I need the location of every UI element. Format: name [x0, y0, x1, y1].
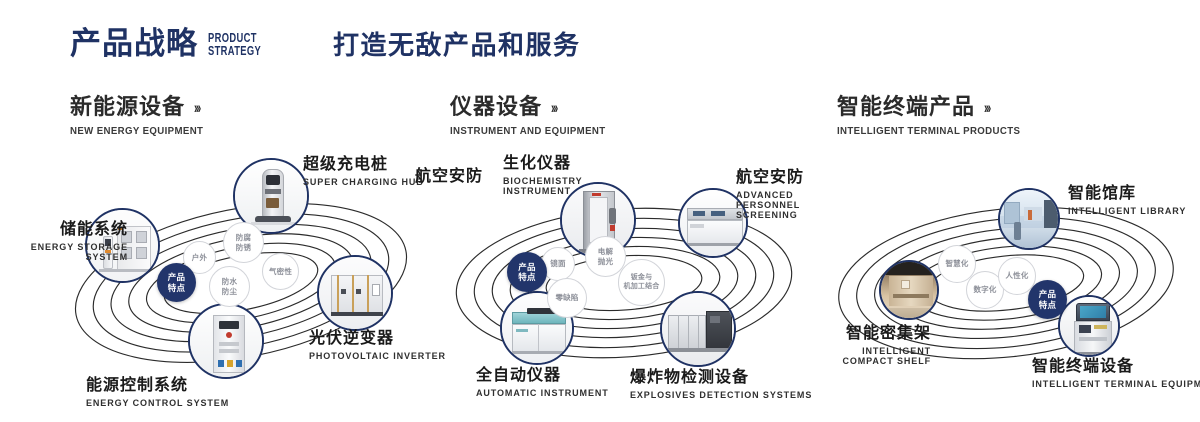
feature-label: 镜面	[550, 259, 565, 268]
node-label-cn: 航空安防	[415, 168, 483, 186]
cluster-intelligent-terminal: 智能馆库 INTELLIGENT LIBRARY 智能密集架 INTELLIGE…	[810, 155, 1200, 405]
chevron-right-icon: ›››	[194, 98, 200, 117]
node-label-en: ENERGY CONTROL SYSTEM	[86, 398, 229, 408]
node-label-cn: 智能终端设备	[1032, 358, 1200, 376]
label-automatic-instrument: 全自动仪器 AUTOMATIC INSTRUMENT	[476, 367, 609, 398]
section-title-en: NEW ENERGY EQUIPMENT	[70, 125, 203, 137]
brand-en-line-2: STRATEGY	[208, 44, 261, 57]
feature-bubble-airtight[interactable]: 气密性	[262, 253, 299, 290]
section-title-en: INTELLIGENT TERMINAL PRODUCTS	[837, 125, 1020, 137]
section-title-cn: 新能源设备	[70, 96, 185, 118]
label-explosives-detection: 爆炸物检测设备 EXPLOSIVES DETECTION SYSTEMS	[630, 369, 812, 400]
feature-bubble-zero-defect[interactable]: 零缺陷	[547, 278, 587, 318]
node-label-en: BIOCHEMISTRY INSTRUMENT	[503, 176, 563, 196]
node-label-en: INTELLIGENT COMPACT SHELF	[825, 346, 931, 366]
page-header: 产品战略 PRODUCT STRATEGY	[70, 28, 282, 59]
label-intelligent-compact-shelf: 智能密集架 INTELLIGENT COMPACT SHELF	[825, 325, 931, 366]
section-title-instrument: 仪器设备 ››› INSTRUMENT AND EQUIPMENT	[450, 96, 619, 137]
feature-label: 数字化	[973, 285, 996, 294]
label-energy-storage-system: 储能系统 ENERGY STORAGE SYSTEM	[10, 221, 128, 262]
section-title-cn: 仪器设备	[450, 96, 542, 118]
core-badge-product-features[interactable]: 产品特点	[507, 252, 547, 292]
feature-label: 防水 防尘	[222, 277, 237, 296]
label-energy-control-system: 能源控制系统 ENERGY CONTROL SYSTEM	[86, 377, 229, 408]
node-label-cn: 智能馆库	[1068, 185, 1186, 203]
node-intelligent-library[interactable]	[998, 188, 1060, 250]
core-badge-text: 产品特点	[1039, 289, 1057, 309]
node-label-cn: 能源控制系统	[86, 377, 229, 395]
feature-label: 防腐 防锈	[236, 233, 251, 252]
feature-label: 气密性	[269, 267, 292, 276]
feature-label: 户外	[192, 253, 207, 262]
cluster-instrument: 生化仪器 BIOCHEMISTRY INSTRUMENT 航空安防 航空安防 A…	[428, 155, 828, 405]
node-label-en: SUPER CHARGING HUB	[303, 177, 424, 187]
node-label-en: EXPLOSIVES DETECTION SYSTEMS	[630, 390, 812, 400]
node-intelligent-compact-shelf[interactable]	[879, 260, 939, 320]
label-intelligent-library: 智能馆库 INTELLIGENT LIBRARY	[1068, 185, 1186, 216]
label-intelligent-terminal-equipment: 智能终端设备 INTELLIGENT TERMINAL EQUIPMENT	[1032, 358, 1200, 389]
feature-bubble-sheetmetal-machining[interactable]: 钣金与 机加工结合	[618, 259, 665, 306]
label-super-charging-hub: 超级充电桩 SUPER CHARGING HUB	[303, 156, 424, 187]
chevron-right-icon: ›››	[984, 98, 990, 117]
energy-control-system-photo	[190, 305, 262, 377]
page-title-english: PRODUCT STRATEGY	[208, 31, 261, 60]
feature-bubble-anti-rust[interactable]: 防腐 防锈	[223, 222, 264, 263]
node-label-cn: 爆炸物检测设备	[630, 369, 812, 387]
node-label-cn: 全自动仪器	[476, 367, 609, 385]
core-badge-text: 产品特点	[168, 272, 186, 292]
node-label-en: AUTOMATIC INSTRUMENT	[476, 388, 609, 398]
feature-label: 智慧化	[945, 259, 968, 268]
node-label-cn: 生化仪器	[503, 155, 563, 173]
intelligent-library-photo	[1000, 190, 1058, 248]
feature-label: 钣金与 机加工结合	[624, 274, 660, 292]
intelligent-compact-shelf-photo	[881, 262, 937, 318]
node-label-en: INTELLIGENT LIBRARY	[1068, 206, 1186, 216]
feature-label: 零缺陷	[555, 293, 578, 302]
node-explosives-detection[interactable]	[660, 291, 736, 367]
section-title-en: INSTRUMENT AND EQUIPMENT	[450, 125, 606, 137]
node-label-cn: 光伏逆变器	[309, 330, 446, 348]
section-title-new-energy: 新能源设备 ››› NEW ENERGY EQUIPMENT	[70, 96, 215, 137]
label-aviation-security-left: 航空安防	[415, 168, 483, 186]
cluster-new-energy: 储能系统 ENERGY STORAGE SYSTEM 超级充电桩 SUPER C…	[45, 155, 445, 405]
node-label-cn: 储能系统	[10, 221, 128, 239]
feature-bubble-waterproof[interactable]: 防水 防尘	[209, 266, 250, 307]
node-label-en: PHOTOVOLTAIC INVERTER	[309, 351, 446, 361]
explosives-detection-photo	[662, 293, 734, 365]
feature-label: 电解 抛光	[598, 247, 613, 266]
intelligent-terminal-equipment-photo	[1060, 297, 1118, 355]
label-photovoltaic-inverter: 光伏逆变器 PHOTOVOLTAIC INVERTER	[309, 330, 446, 361]
core-badge-product-features[interactable]: 产品特点	[157, 263, 196, 302]
header-tagline: 打造无敌产品和服务	[333, 32, 581, 58]
chevron-right-icon: ›››	[551, 98, 557, 117]
section-title-intelligent-terminal: 智能终端产品 ››› INTELLIGENT TERMINAL PRODUCTS	[837, 96, 1036, 137]
core-badge-product-features[interactable]: 产品特点	[1028, 280, 1067, 319]
section-title-cn: 智能终端产品	[837, 96, 975, 118]
photovoltaic-inverter-photo	[319, 257, 391, 329]
node-intelligent-terminal-equipment[interactable]	[1058, 295, 1120, 357]
node-label-en: INTELLIGENT TERMINAL EQUIPMENT	[1032, 379, 1200, 389]
page-title: 产品战略	[70, 28, 198, 59]
node-label-en: ENERGY STORAGE SYSTEM	[10, 242, 128, 262]
node-photovoltaic-inverter[interactable]	[317, 255, 393, 331]
core-badge-text: 产品特点	[518, 262, 536, 282]
node-label-cn: 智能密集架	[825, 325, 931, 343]
node-label-cn: 超级充电桩	[303, 156, 424, 174]
feature-label: 人性化	[1005, 271, 1028, 280]
node-energy-control-system[interactable]	[188, 303, 264, 379]
brand-en-line-1: PRODUCT	[208, 31, 261, 44]
